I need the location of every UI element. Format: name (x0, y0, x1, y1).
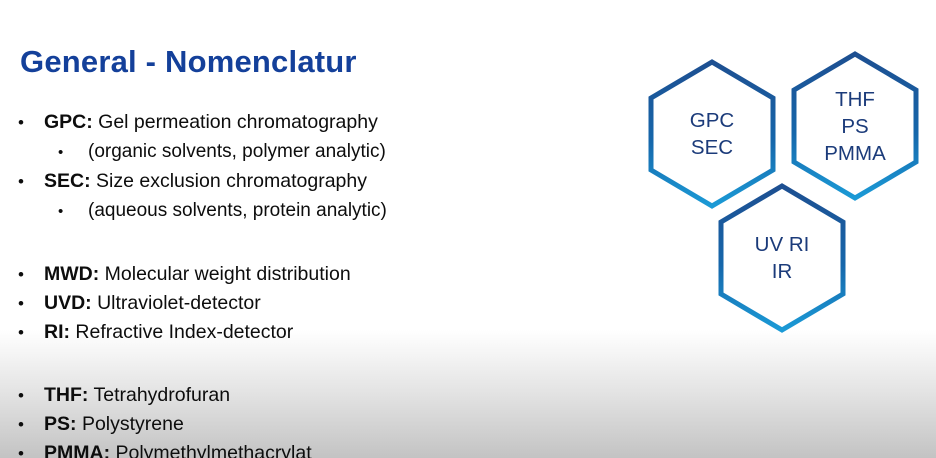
list-item-text: PMMA: Polymethylmethacrylat (44, 439, 600, 458)
list-item-description: Refractive Index-detector (75, 321, 293, 343)
list-item-description: Polystyrene (82, 413, 184, 435)
list-item-description: Tetrahydrofuran (93, 384, 230, 406)
list-item-text: (aqueous solvents, protein analytic) (88, 196, 600, 225)
list-item-description: (aqueous solvents, protein analytic) (88, 200, 387, 221)
hexagon-outline-icon (715, 182, 849, 334)
bullet-dot-icon: • (18, 439, 44, 458)
hexagon-outline-icon (788, 50, 922, 202)
list-item: •RI: Refractive Index-detector (0, 318, 600, 347)
list-item-term: GPC: (44, 111, 93, 133)
list-group-spacer (0, 226, 600, 260)
list-item: •UVD: Ultraviolet-detector (0, 289, 600, 318)
list-item-text: PS: Polystyrene (44, 410, 600, 439)
list-item: •GPC: Gel permeation chromatography (0, 108, 600, 137)
list-group-spacer (0, 347, 600, 381)
hexagon-3: UV RIIR (715, 182, 849, 334)
bullet-dot-icon: • (58, 138, 88, 167)
list-item-description: Size exclusion chromatography (96, 170, 367, 192)
list-item-term: PMMA: (44, 442, 110, 458)
list-item-term: UVD: (44, 292, 92, 314)
list-item-text: UVD: Ultraviolet-detector (44, 289, 600, 318)
list-item-term: SEC: (44, 170, 91, 192)
list-item: •THF: Tetrahydrofuran (0, 381, 600, 410)
list-group: •GPC: Gel permeation chromatography•(org… (0, 108, 600, 226)
bullet-dot-icon: • (18, 410, 44, 439)
page-title: General - Nomenclatur (20, 44, 357, 80)
hexagon-2: THFPSPMMA (788, 50, 922, 202)
list-item: •SEC: Size exclusion chromatography (0, 167, 600, 196)
bullet-dot-icon: • (18, 108, 44, 137)
list-item-term: MWD: (44, 263, 99, 285)
list-item: •MWD: Molecular weight distribution (0, 260, 600, 289)
slide-canvas: General - Nomenclatur •GPC: Gel permeati… (0, 0, 936, 458)
bullet-dot-icon: • (18, 289, 44, 318)
list-item-text: MWD: Molecular weight distribution (44, 260, 600, 289)
list-item-text: RI: Refractive Index-detector (44, 318, 600, 347)
bullet-dot-icon: • (18, 381, 44, 410)
nomenclature-list: •GPC: Gel permeation chromatography•(org… (0, 108, 600, 458)
list-item-description: Ultraviolet-detector (97, 292, 261, 314)
list-item-text: GPC: Gel permeation chromatography (44, 108, 600, 137)
list-item-term: THF: (44, 384, 88, 406)
hexagon-diagram: GPCSECTHFPSPMMAUV RIIR (640, 58, 936, 334)
list-item: •(aqueous solvents, protein analytic) (0, 196, 600, 226)
list-item-description: Molecular weight distribution (105, 263, 351, 285)
list-group: •THF: Tetrahydrofuran•PS: Polystyrene•PM… (0, 381, 600, 458)
list-item-text: THF: Tetrahydrofuran (44, 381, 600, 410)
list-item-description: Gel permeation chromatography (98, 111, 378, 133)
bullet-dot-icon: • (18, 167, 44, 196)
list-item-text: SEC: Size exclusion chromatography (44, 167, 600, 196)
list-item-description: (organic solvents, polymer analytic) (88, 141, 386, 162)
list-item: •PS: Polystyrene (0, 410, 600, 439)
list-group: •MWD: Molecular weight distribution•UVD:… (0, 260, 600, 347)
list-item-text: (organic solvents, polymer analytic) (88, 137, 600, 166)
list-item-term: PS: (44, 413, 77, 435)
bullet-dot-icon: • (58, 197, 88, 226)
bullet-dot-icon: • (18, 318, 44, 347)
list-item-term: RI: (44, 321, 70, 343)
list-item: •PMMA: Polymethylmethacrylat (0, 439, 600, 458)
list-item: •(organic solvents, polymer analytic) (0, 137, 600, 167)
bullet-dot-icon: • (18, 260, 44, 289)
list-item-description: Polymethylmethacrylat (116, 442, 312, 458)
